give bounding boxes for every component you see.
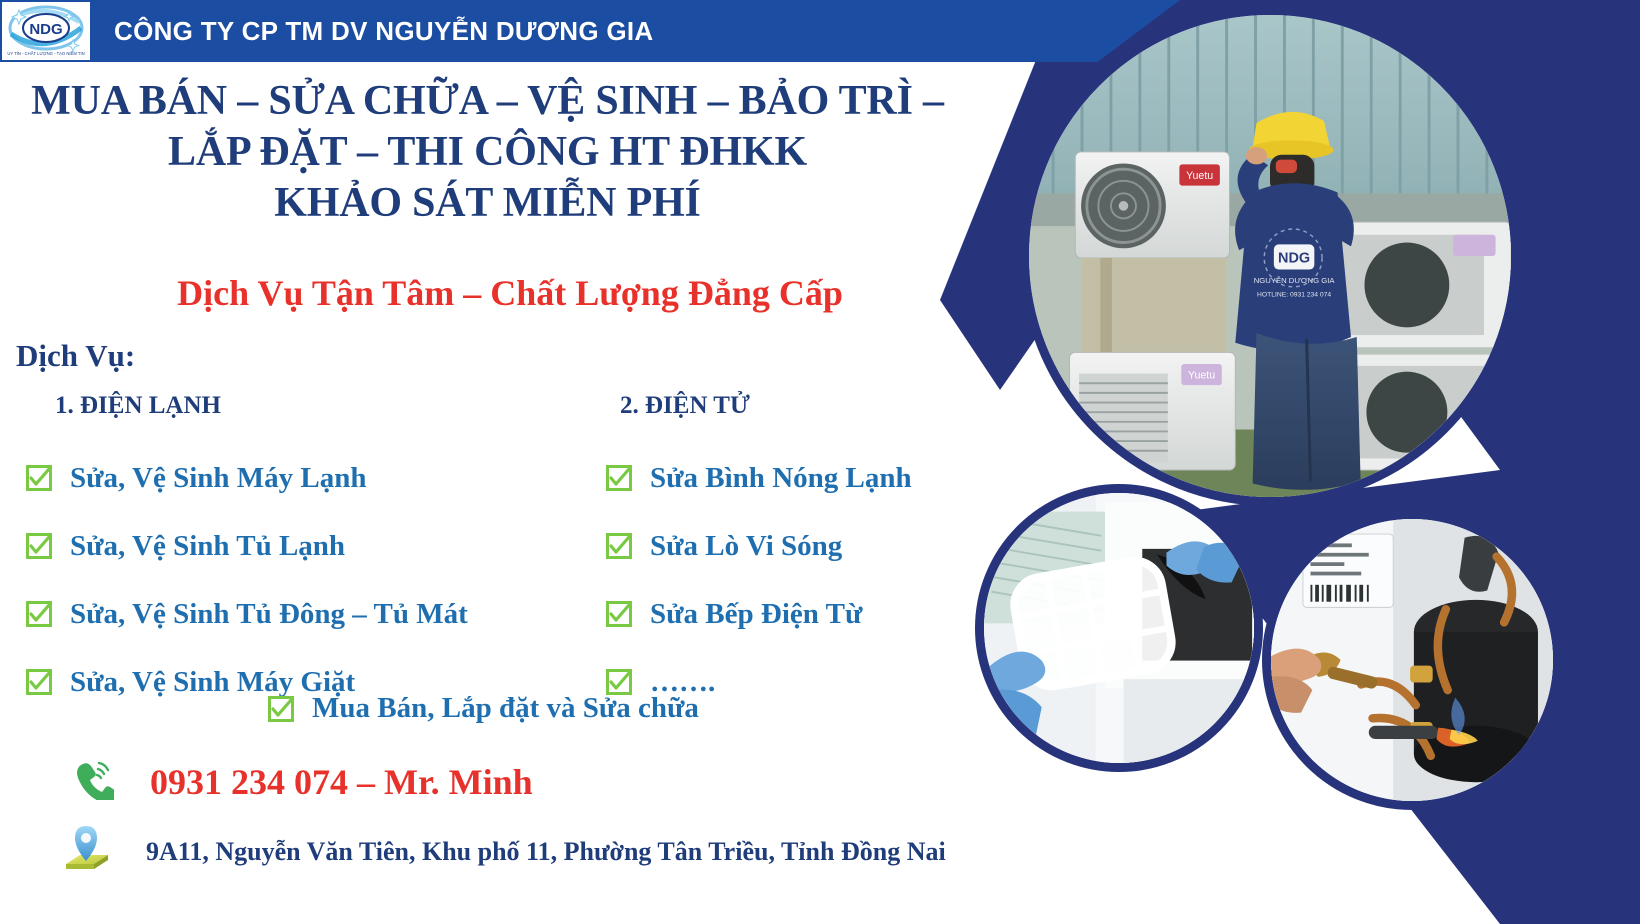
photo-compressor-brazing <box>1262 510 1562 810</box>
service-label: Sửa Bình Nóng Lạnh <box>650 462 912 495</box>
tagline: Dịch Vụ Tận Tâm – Chất Lượng Đẳng Cấp <box>0 272 1020 314</box>
headline: MUA BÁN – SỬA CHỮA – VỆ SINH – BẢO TRÌ –… <box>0 76 975 230</box>
svg-text:NGUYỄN DƯƠNG GIA: NGUYỄN DƯƠNG GIA <box>1254 276 1336 285</box>
service-label: Mua Bán, Lắp đặt và Sửa chữa <box>312 692 699 725</box>
services-column-1-heading: 1. ĐIỆN LẠNH <box>55 392 221 420</box>
service-label: Sửa, Vệ Sinh Máy Lạnh <box>70 462 367 495</box>
photo-ac-filter-cleaning <box>975 484 1263 772</box>
company-name: CÔNG TY CP TM DV NGUYỄN DƯƠNG GIA <box>114 16 654 47</box>
svg-text:Yuetu: Yuetu <box>1186 170 1213 182</box>
location-pin-icon <box>58 820 116 883</box>
checkbox-checked-icon <box>26 669 52 695</box>
checkbox-checked-icon <box>26 601 52 627</box>
phone-icon <box>72 758 114 805</box>
header-bar: NDG UY TÍN - CHẤT LƯỢNG - TẠO NIỀM TIN C… <box>0 0 1180 62</box>
address-row: 9A11, Nguyễn Văn Tiên, Khu phố 11, Phườn… <box>58 820 946 883</box>
svg-text:NDG: NDG <box>29 21 62 38</box>
list-item: Sửa Lò Vi Sóng <box>606 512 1036 580</box>
photo-technician-installing-ac: Yuetu Yuetu <box>1020 6 1520 506</box>
svg-text:NDG: NDG <box>1278 251 1310 267</box>
checkbox-checked-icon <box>26 533 52 559</box>
checkbox-checked-icon <box>26 465 52 491</box>
headline-line-3: KHẢO SÁT MIỄN PHÍ <box>0 178 975 229</box>
service-label: Sửa Lò Vi Sóng <box>650 530 842 563</box>
phone-number[interactable]: 0931 234 074 – Mr. Minh <box>150 761 533 803</box>
company-logo: NDG UY TÍN - CHẤT LƯỢNG - TẠO NIỀM TIN <box>0 0 92 62</box>
checkbox-checked-icon <box>606 465 632 491</box>
services-column-2: Sửa Bình Nóng Lạnh Sửa Lò Vi Sóng Sửa Bế… <box>606 444 1036 716</box>
list-item: Sửa, Vệ Sinh Tủ Đông – Tủ Mát <box>26 580 586 648</box>
phone-contact-row: 0931 234 074 – Mr. Minh <box>72 758 533 805</box>
logo-tagline: UY TÍN - CHẤT LƯỢNG - TẠO NIỀM TIN <box>7 51 84 56</box>
headline-line-2: LẮP ĐẶT – THI CÔNG HT ĐHKK <box>0 127 975 178</box>
svg-text:Yuetu: Yuetu <box>1188 369 1215 381</box>
svg-text:HOTLINE: 0931 234 074: HOTLINE: 0931 234 074 <box>1257 291 1331 298</box>
checkbox-checked-icon <box>606 533 632 559</box>
checkbox-checked-icon <box>606 601 632 627</box>
services-column-1: Sửa, Vệ Sinh Máy Lạnh Sửa, Vệ Sinh Tủ Lạ… <box>26 444 586 716</box>
service-label: Sửa Bếp Điện Từ <box>650 598 862 631</box>
list-item: Sửa Bếp Điện Từ <box>606 580 1036 648</box>
address-text: 9A11, Nguyễn Văn Tiên, Khu phố 11, Phườn… <box>146 837 946 867</box>
service-label: Sửa, Vệ Sinh Tủ Lạnh <box>70 530 345 563</box>
services-column-2-heading: 2. ĐIỆN TỬ <box>620 392 750 420</box>
list-item: Sửa, Vệ Sinh Tủ Lạnh <box>26 512 586 580</box>
list-item: Sửa Bình Nóng Lạnh <box>606 444 1036 512</box>
flyer-canvas: Yuetu Yuetu <box>0 0 1640 924</box>
service-label: Sửa, Vệ Sinh Tủ Đông – Tủ Mát <box>70 598 468 631</box>
services-title: Dịch Vụ: <box>16 338 135 374</box>
headline-line-1: MUA BÁN – SỬA CHỮA – VỆ SINH – BẢO TRÌ – <box>0 76 975 127</box>
services-full-width-item: Mua Bán, Lắp đặt và Sửa chữa <box>268 692 699 725</box>
checkbox-checked-icon <box>268 696 294 722</box>
list-item: Sửa, Vệ Sinh Máy Lạnh <box>26 444 586 512</box>
